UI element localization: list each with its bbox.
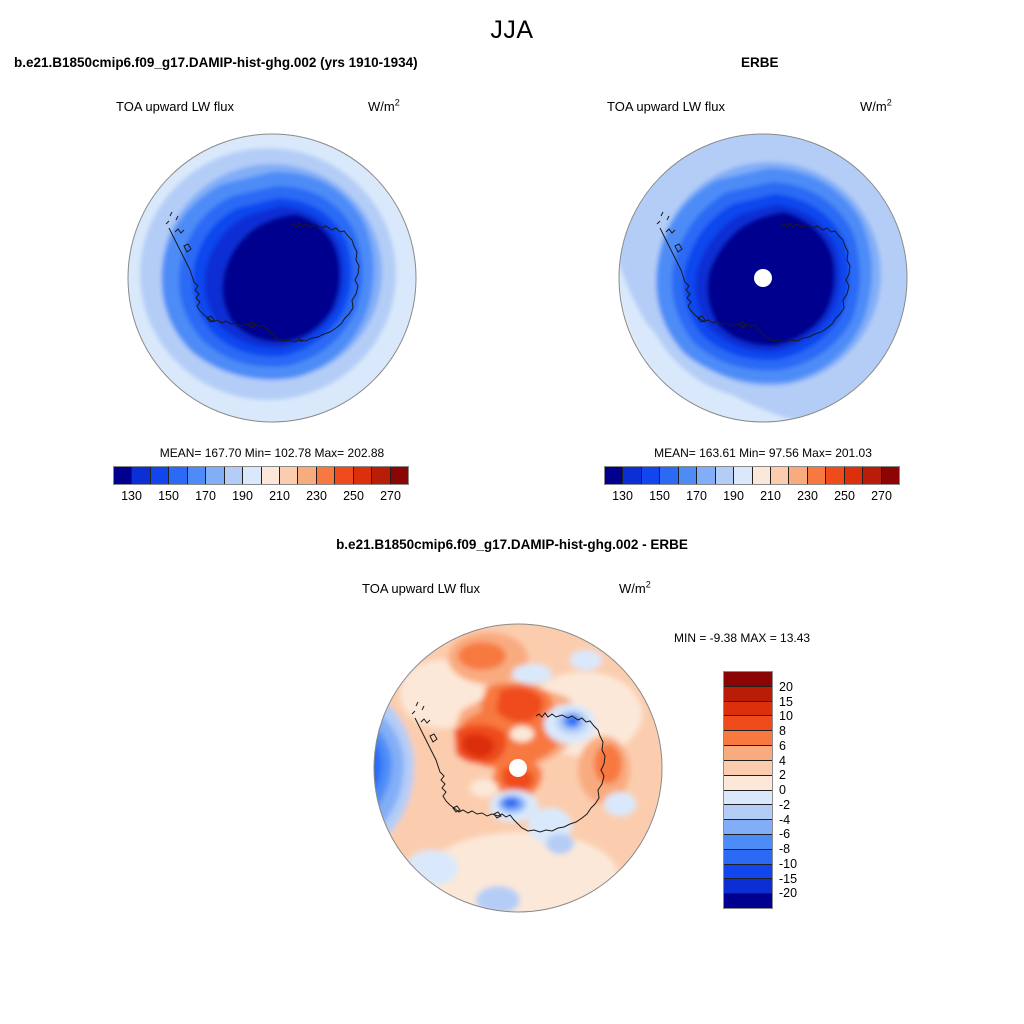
colorbar-cell xyxy=(724,760,772,775)
obs-colorbar-ticks: 130150170190210230250270 xyxy=(604,489,900,505)
colorbar-cell xyxy=(752,467,770,484)
diff-units-label: W/m2 xyxy=(619,581,651,596)
diff-colorbar-ticks: 20151086420-2-4-6-8-10-15-20 xyxy=(779,671,823,909)
colorbar-cell xyxy=(696,467,714,484)
colorbar-cell xyxy=(371,467,389,484)
colorbar-cell xyxy=(825,467,843,484)
diff-colorbar: 20151086420-2-4-6-8-10-15-20 xyxy=(723,671,823,909)
colorbar-cell xyxy=(678,467,696,484)
colorbar-cell xyxy=(605,467,622,484)
colorbar-cell xyxy=(724,745,772,760)
colorbar-tick-label: 8 xyxy=(779,724,786,738)
colorbar-tick-label: -20 xyxy=(779,886,797,900)
model-colorbar: 130150170190210230250270 xyxy=(113,466,409,505)
model-colorbar-strip xyxy=(113,466,409,485)
colorbar-cell xyxy=(150,467,168,484)
colorbar-tick-label: -8 xyxy=(779,842,790,856)
colorbar-tick-label: 210 xyxy=(269,489,290,503)
diff-map-svg xyxy=(372,618,664,918)
model-contour-fills xyxy=(126,130,418,428)
colorbar-tick-label: 170 xyxy=(686,489,707,503)
colorbar-tick-label: 270 xyxy=(380,489,401,503)
obs-panel-title: ERBE xyxy=(741,55,779,70)
colorbar-cell xyxy=(724,804,772,819)
model-map-svg xyxy=(126,128,418,428)
colorbar-cell xyxy=(862,467,880,484)
colorbar-cell xyxy=(733,467,751,484)
obs-stats: MEAN= 163.61 Min= 97.56 Max= 201.03 xyxy=(617,446,909,460)
colorbar-tick-label: -15 xyxy=(779,872,797,886)
colorbar-tick-label: 130 xyxy=(612,489,633,503)
colorbar-cell xyxy=(844,467,862,484)
diff-units-text: W/m xyxy=(619,581,646,596)
colorbar-cell xyxy=(724,672,772,686)
colorbar-tick-label: 15 xyxy=(779,695,793,709)
colorbar-cell xyxy=(788,467,806,484)
obs-colorbar-strip xyxy=(604,466,900,485)
colorbar-cell xyxy=(622,467,640,484)
obs-map-svg xyxy=(617,128,909,428)
colorbar-cell xyxy=(724,715,772,730)
obs-field-label: TOA upward LW flux xyxy=(607,99,725,114)
colorbar-cell xyxy=(724,730,772,745)
model-units-exponent: 2 xyxy=(395,98,400,108)
model-units-text: W/m xyxy=(368,99,395,114)
colorbar-tick-label: -6 xyxy=(779,827,790,841)
colorbar-tick-label: 170 xyxy=(195,489,216,503)
colorbar-tick-label: 250 xyxy=(343,489,364,503)
colorbar-tick-label: 190 xyxy=(232,489,253,503)
colorbar-cell xyxy=(334,467,352,484)
colorbar-cell xyxy=(641,467,659,484)
colorbar-cell xyxy=(715,467,733,484)
colorbar-tick-label: 150 xyxy=(649,489,670,503)
diff-colorbar-strip xyxy=(723,671,773,909)
colorbar-cell xyxy=(114,467,131,484)
colorbar-cell xyxy=(242,467,260,484)
colorbar-tick-label: 250 xyxy=(834,489,855,503)
colorbar-cell xyxy=(724,864,772,879)
obs-polar-data-gap xyxy=(754,269,772,287)
model-stats: MEAN= 167.70 Min= 102.78 Max= 202.88 xyxy=(126,446,418,460)
colorbar-cell xyxy=(316,467,334,484)
colorbar-tick-label: -4 xyxy=(779,813,790,827)
colorbar-cell xyxy=(131,467,149,484)
colorbar-tick-label: -10 xyxy=(779,857,797,871)
diff-polar-map xyxy=(372,618,664,918)
colorbar-tick-label: 20 xyxy=(779,680,793,694)
colorbar-tick-label: 6 xyxy=(779,739,786,753)
colorbar-tick-label: 270 xyxy=(871,489,892,503)
model-units-label: W/m2 xyxy=(368,99,400,114)
obs-colorbar: 130150170190210230250270 xyxy=(604,466,900,505)
obs-polar-map xyxy=(617,128,909,428)
colorbar-cell xyxy=(724,701,772,716)
diff-units-exponent: 2 xyxy=(646,580,651,590)
diff-field-label: TOA upward LW flux xyxy=(362,581,480,596)
colorbar-cell xyxy=(297,467,315,484)
colorbar-cell xyxy=(261,467,279,484)
colorbar-cell xyxy=(724,790,772,805)
colorbar-tick-label: 230 xyxy=(797,489,818,503)
diff-panel-title: b.e21.B1850cmip6.f09_g17.DAMIP-hist-ghg.… xyxy=(0,537,1024,552)
colorbar-tick-label: 10 xyxy=(779,709,793,723)
colorbar-cell xyxy=(390,467,408,484)
colorbar-cell xyxy=(224,467,242,484)
colorbar-cell xyxy=(724,893,772,908)
colorbar-tick-label: 130 xyxy=(121,489,142,503)
colorbar-cell xyxy=(770,467,788,484)
obs-units-text: W/m xyxy=(860,99,887,114)
colorbar-cell xyxy=(724,819,772,834)
colorbar-tick-label: 210 xyxy=(760,489,781,503)
colorbar-tick-label: 230 xyxy=(306,489,327,503)
colorbar-cell xyxy=(168,467,186,484)
model-panel-title: b.e21.B1850cmip6.f09_g17.DAMIP-hist-ghg.… xyxy=(14,55,418,70)
colorbar-cell xyxy=(807,467,825,484)
diff-polar-data-gap xyxy=(509,759,527,777)
colorbar-tick-label: 150 xyxy=(158,489,179,503)
colorbar-cell xyxy=(724,878,772,893)
colorbar-cell xyxy=(205,467,223,484)
season-title: JJA xyxy=(0,16,1024,45)
colorbar-tick-label: 190 xyxy=(723,489,744,503)
colorbar-cell xyxy=(659,467,677,484)
colorbar-cell xyxy=(279,467,297,484)
colorbar-tick-label: 0 xyxy=(779,783,786,797)
obs-units-exponent: 2 xyxy=(887,98,892,108)
model-field-label: TOA upward LW flux xyxy=(116,99,234,114)
colorbar-cell xyxy=(724,834,772,849)
colorbar-tick-label: -2 xyxy=(779,798,790,812)
diff-minmax: MIN = -9.38 MAX = 13.43 xyxy=(674,631,810,645)
model-polar-map xyxy=(126,128,418,428)
model-colorbar-ticks: 130150170190210230250270 xyxy=(113,489,409,505)
colorbar-cell xyxy=(724,849,772,864)
colorbar-cell xyxy=(724,686,772,701)
colorbar-cell xyxy=(353,467,371,484)
colorbar-tick-label: 2 xyxy=(779,768,786,782)
colorbar-tick-label: 4 xyxy=(779,754,786,768)
colorbar-cell xyxy=(724,775,772,790)
colorbar-cell xyxy=(881,467,899,484)
colorbar-cell xyxy=(187,467,205,484)
obs-units-label: W/m2 xyxy=(860,99,892,114)
